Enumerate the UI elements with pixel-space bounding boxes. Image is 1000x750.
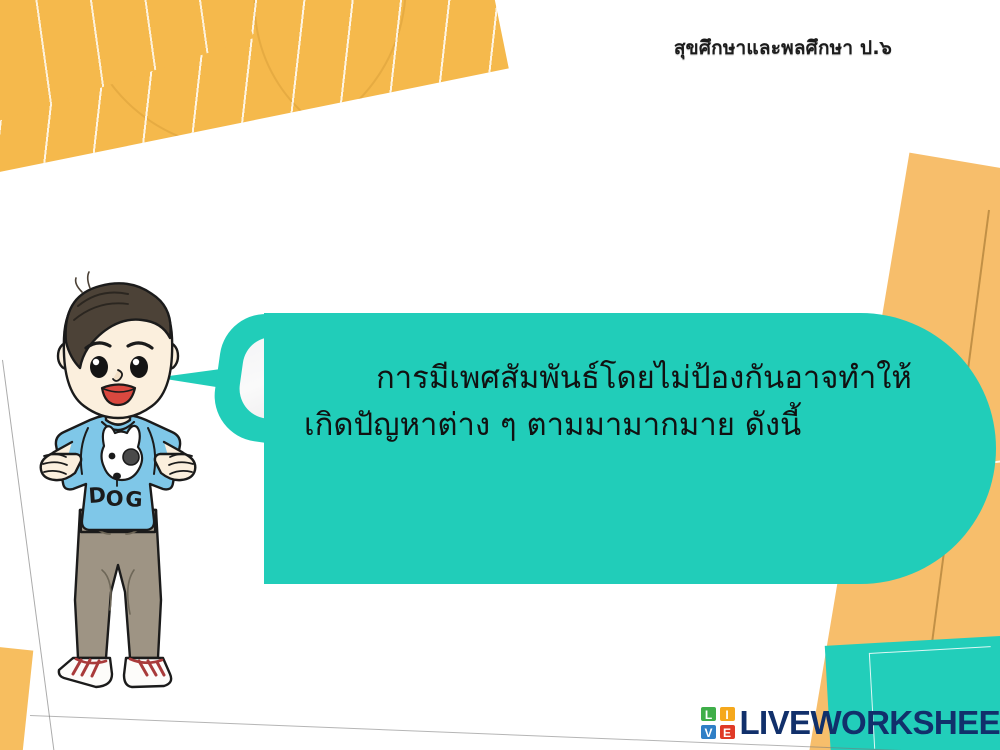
dark-diagonal-line [0,0,509,91]
decorative-arc [227,0,509,180]
svg-text:O: O [105,486,124,511]
svg-text:G: G [125,487,143,512]
svg-text:D: D [88,483,107,508]
speech-bubble: การมีเพศสัมพันธ์โดยไม่ป้องกันอาจทำให้เกิ… [264,313,996,584]
live-cubes-icon: L I V E [700,706,736,740]
page-title: สุขศึกษาและพลศึกษา ป.๖ [674,33,892,63]
live-cube-l: L [700,706,717,722]
top-left-orange-band-secondary [0,0,254,140]
top-left-orange-band [0,0,509,180]
decorative-arc [47,0,436,179]
live-cube-i: I [719,706,736,722]
diagonal-stripes [0,0,254,140]
liveworksheets-wordmark: LIVEWORKSHEETS [740,706,1000,740]
cartoon-boy-illustration: D O G [18,270,218,700]
speech-bubble-text: การมีเพศสัมพันธ์โดยไม่ป้องกันอาจทำให้เกิ… [304,355,934,449]
worksheet-slide: สุขศึกษาและพลศึกษา ป.๖ การมีเพศสัมพันธ์โ… [0,0,1000,750]
liveworksheets-logo: L I V E LIVEWORKSHEETS [700,706,1000,740]
live-cube-v: V [700,724,717,740]
live-cube-e: E [719,724,736,740]
diagonal-stripes [0,0,509,180]
